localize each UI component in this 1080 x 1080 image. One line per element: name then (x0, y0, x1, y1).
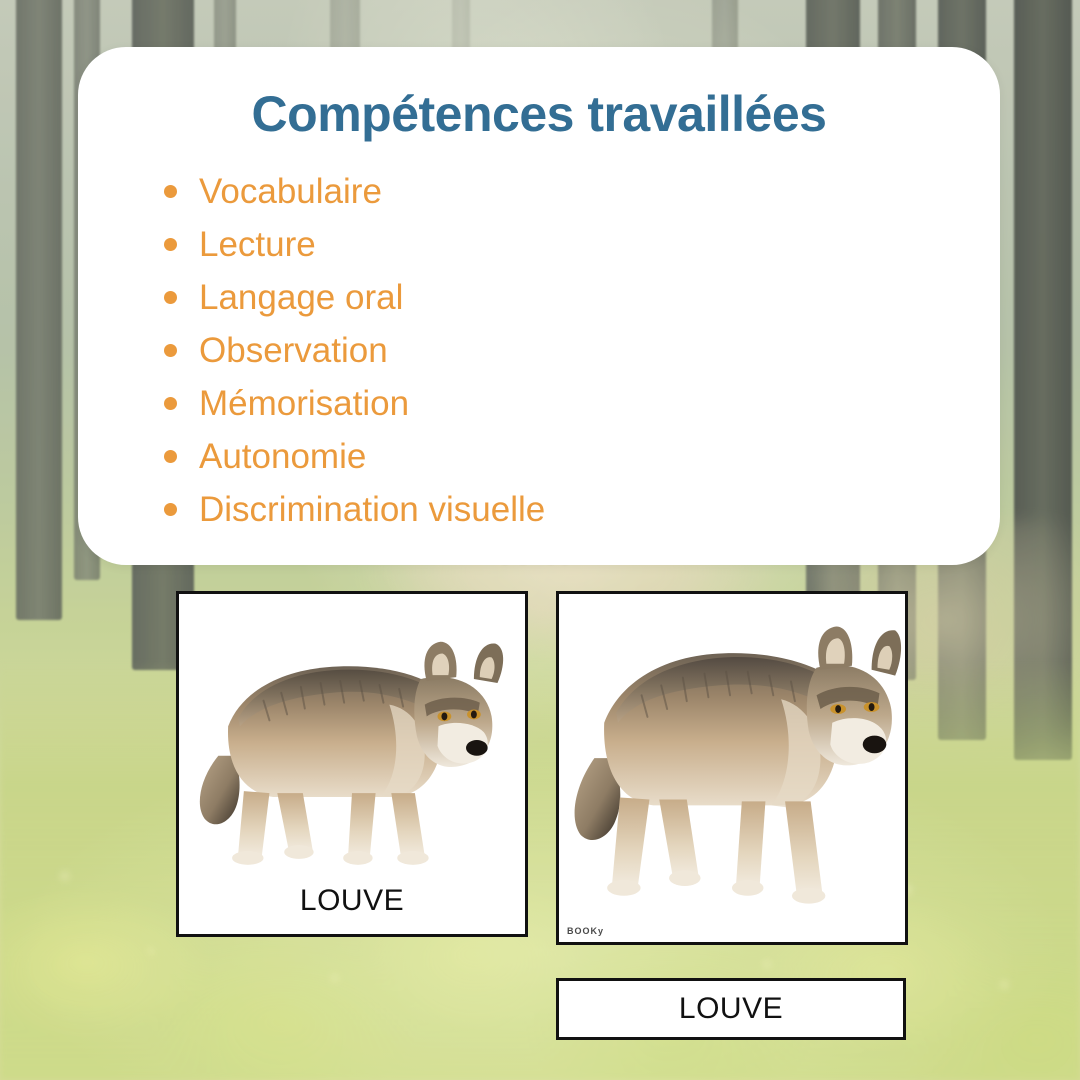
bullet-icon (164, 291, 177, 304)
skills-list: Vocabulaire Lecture Langage oral Observa… (118, 165, 960, 536)
wolf-icon (179, 594, 525, 884)
flashcard-right[interactable]: BOOKy (556, 591, 908, 945)
list-item: Langage oral (164, 271, 960, 324)
page-title: Compétences travaillées (118, 85, 960, 143)
wolf-illustration (179, 594, 525, 884)
bullet-icon (164, 185, 177, 198)
flashcard-left[interactable]: LOUVE (176, 591, 528, 937)
card-caption: LOUVE (179, 884, 525, 934)
skill-label: Lecture (199, 227, 316, 262)
bullet-icon (164, 450, 177, 463)
skills-panel: Compétences travaillées Vocabulaire Lect… (78, 47, 1000, 565)
list-item: Autonomie (164, 430, 960, 483)
wolf-icon (559, 594, 905, 942)
skill-label: Langage oral (199, 280, 403, 315)
skill-label: Autonomie (199, 439, 366, 474)
bullet-icon (164, 344, 177, 357)
bullet-icon (164, 397, 177, 410)
word-label-text: LOUVE (679, 992, 783, 1026)
watermark-label: BOOKy (567, 926, 604, 936)
list-item: Observation (164, 324, 960, 377)
wolf-illustration: BOOKy (559, 594, 905, 942)
bullet-icon (164, 503, 177, 516)
bullet-icon (164, 238, 177, 251)
word-label-card[interactable]: LOUVE (556, 978, 906, 1040)
list-item: Lecture (164, 218, 960, 271)
skill-label: Vocabulaire (199, 174, 382, 209)
skill-label: Observation (199, 333, 388, 368)
skill-label: Discrimination visuelle (199, 492, 545, 527)
list-item: Mémorisation (164, 377, 960, 430)
skill-label: Mémorisation (199, 386, 409, 421)
slide-canvas: Compétences travaillées Vocabulaire Lect… (0, 0, 1080, 1080)
list-item: Vocabulaire (164, 165, 960, 218)
list-item: Discrimination visuelle (164, 483, 960, 536)
